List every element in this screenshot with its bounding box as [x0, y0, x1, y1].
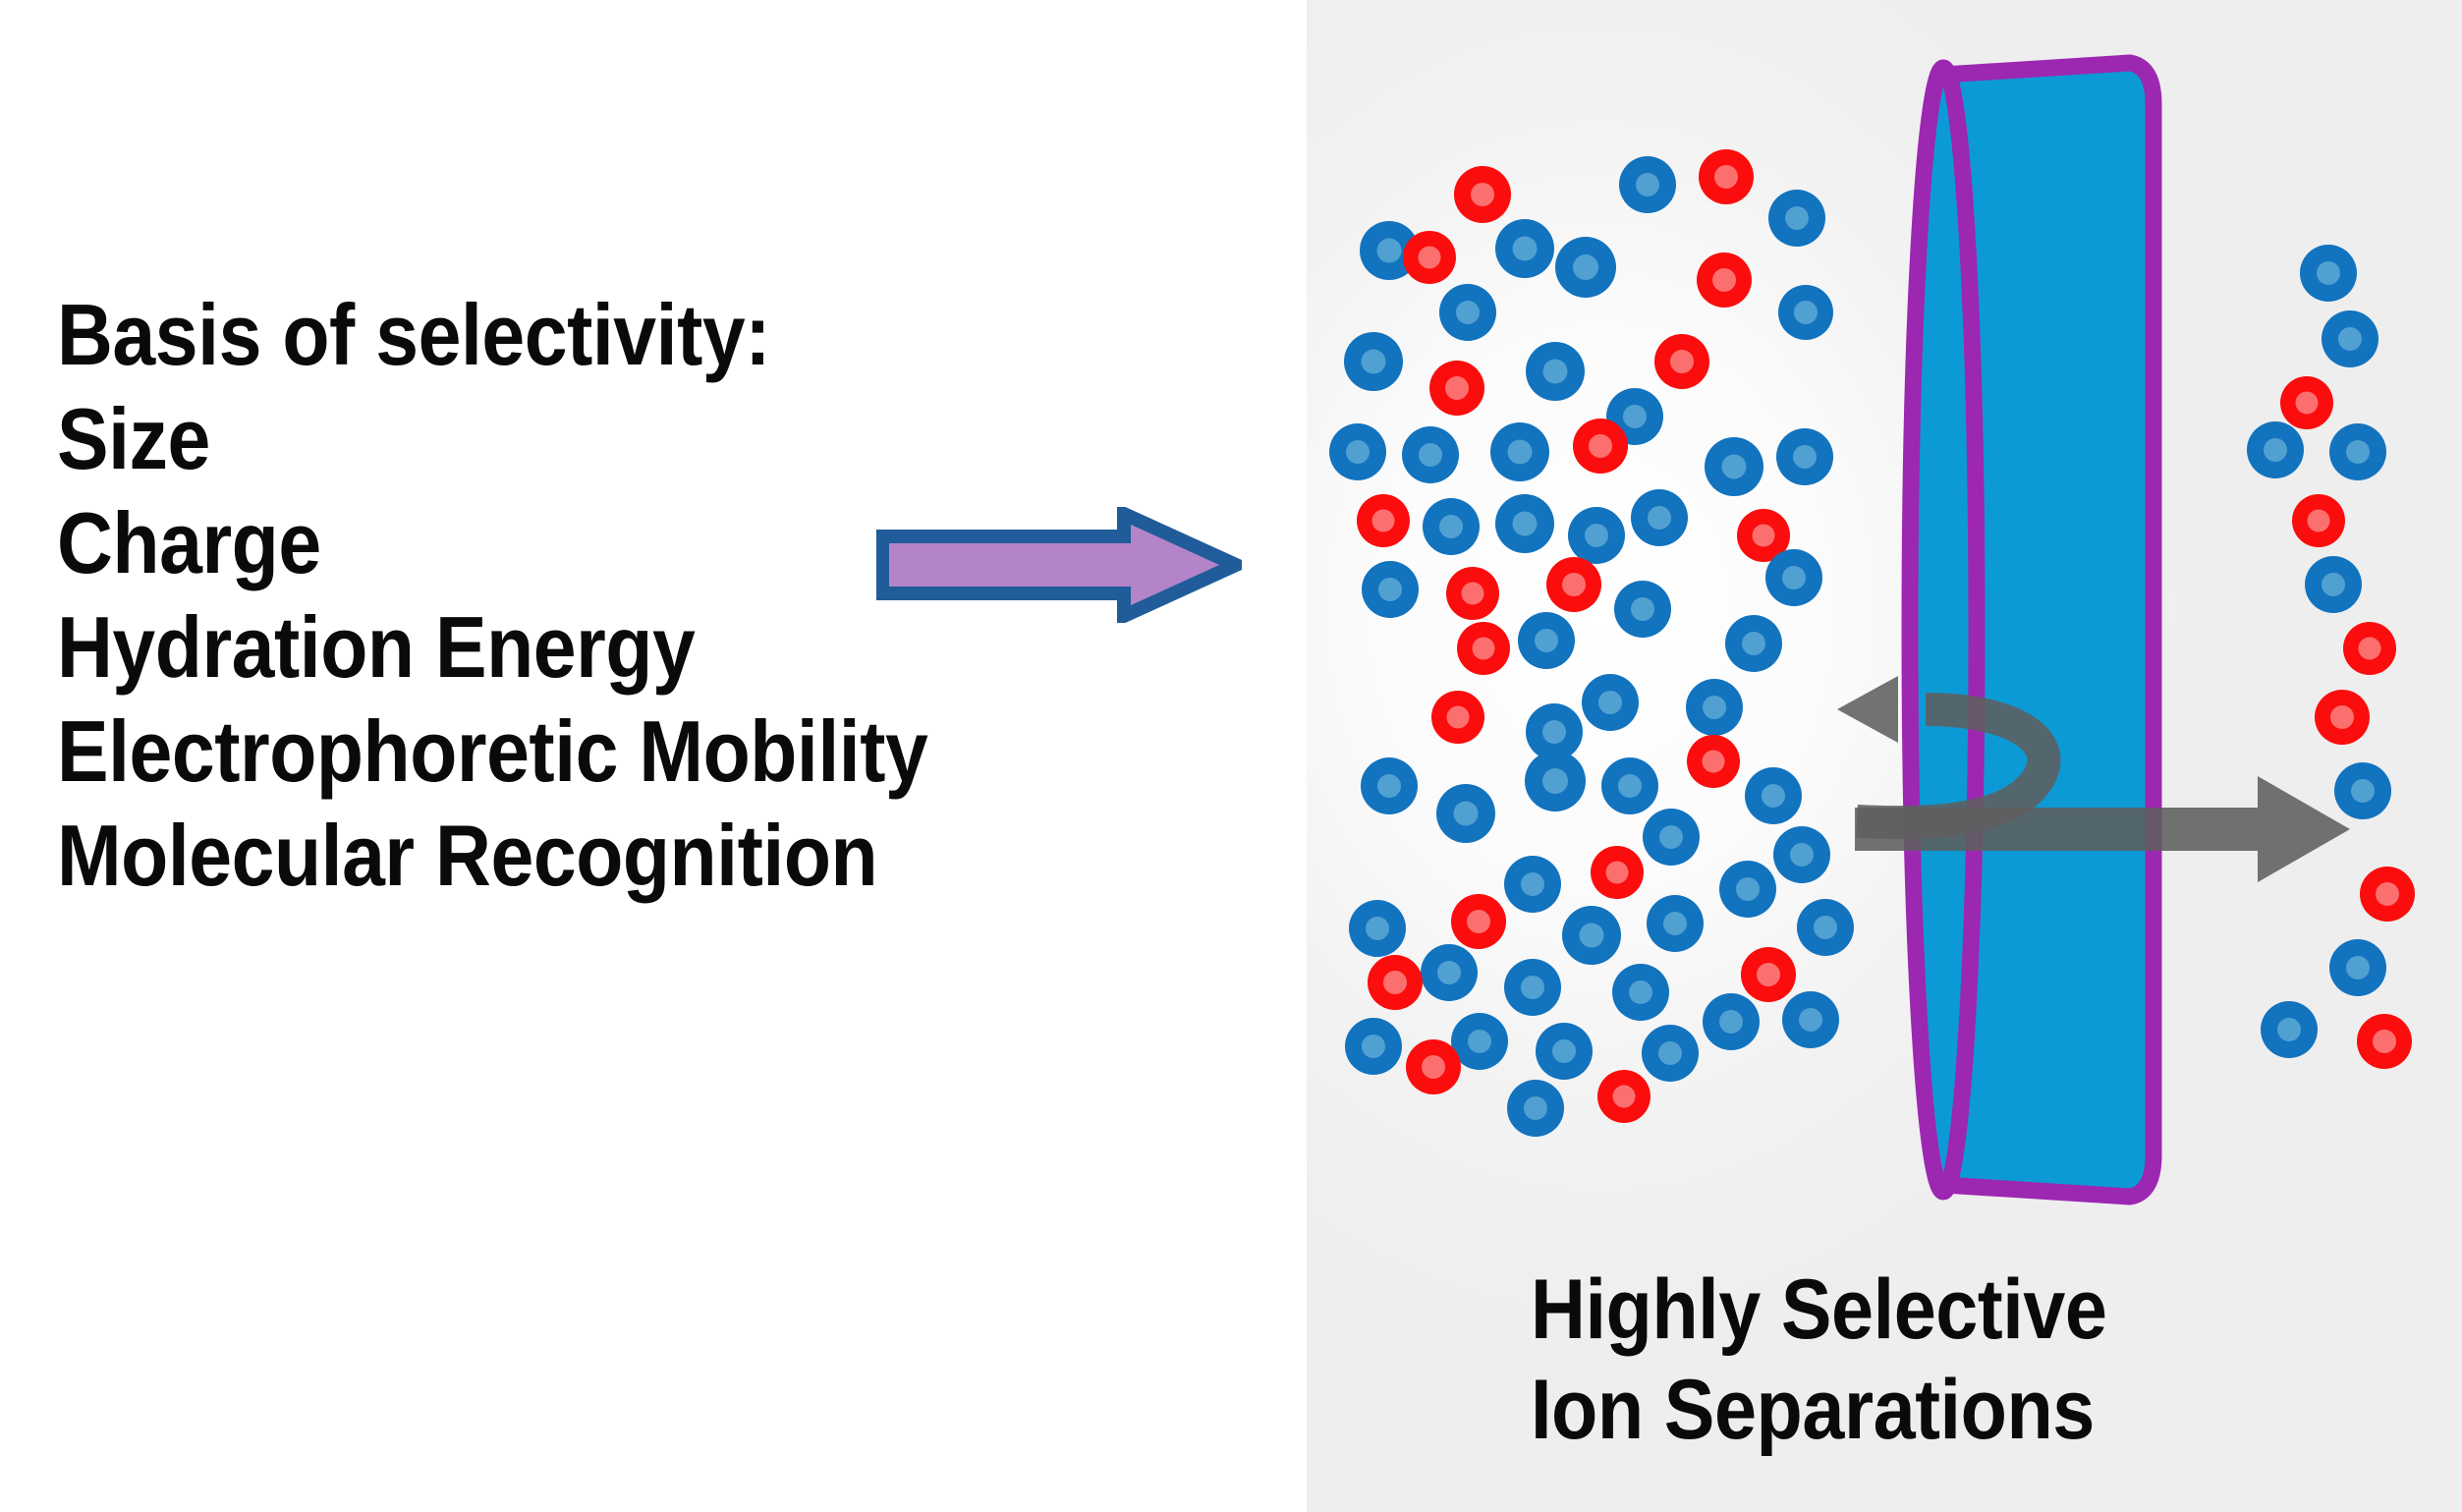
ion-blue	[2322, 310, 2378, 367]
caption-line-2: Ion Separations	[1531, 1360, 2326, 1460]
ion-red	[2315, 690, 2370, 745]
ion-blue	[2305, 556, 2362, 613]
ion-blue	[2300, 245, 2357, 302]
ion-core	[2330, 705, 2354, 729]
ion-core	[2296, 392, 2319, 415]
figure-canvas: Basis of selectivity: Size Charge Hydrat…	[0, 0, 2462, 1512]
scene-caption: Highly Selective Ion Separations	[1531, 1260, 2415, 1461]
ion-red	[2360, 867, 2415, 922]
ion-core	[2277, 1018, 2301, 1041]
ion-red	[2280, 376, 2333, 429]
ion-core	[2338, 327, 2362, 351]
ion-red	[2292, 494, 2345, 547]
ion-core	[2317, 261, 2340, 285]
ion-core	[2308, 510, 2330, 532]
ion-core	[2322, 573, 2345, 596]
caption-line-1: Highly Selective	[1531, 1260, 2326, 1360]
ion-core	[2373, 1030, 2396, 1053]
ion-blue	[2261, 1001, 2318, 1058]
ion-core	[2346, 440, 2370, 464]
ion-red	[2357, 1014, 2412, 1069]
ion-core	[2359, 638, 2381, 660]
ion-core	[2346, 956, 2370, 980]
ion-blue	[2329, 423, 2386, 480]
ion-blue	[2334, 762, 2391, 819]
ion-core	[2376, 882, 2399, 906]
ion-blue	[2329, 939, 2386, 996]
ion-core	[2264, 438, 2287, 462]
ion-core	[2351, 779, 2375, 803]
ion-red	[2343, 622, 2396, 675]
ion-blue	[2247, 421, 2304, 478]
